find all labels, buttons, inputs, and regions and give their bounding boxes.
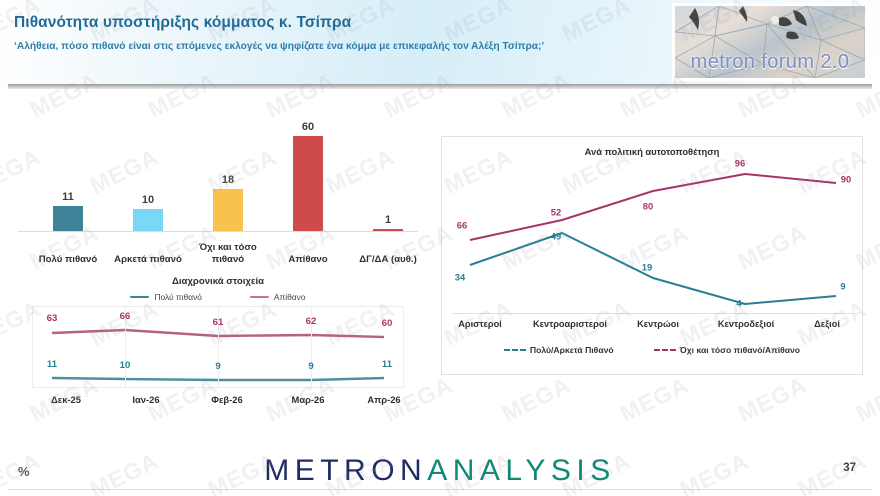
placement-xlabel-3: Κεντροδεξιοί xyxy=(718,319,774,329)
bar-rect-1 xyxy=(133,209,163,231)
page-title: Πιθανότητα υποστήριξης κόμματος κ. Τσίπρ… xyxy=(14,14,351,32)
bar-baseline xyxy=(18,231,418,232)
bar-value-1: 10 xyxy=(112,194,184,206)
chart-timeseries: Διαχρονικά στοιχεία Πολύ πιθανό Απίθανο xyxy=(18,276,418,428)
placement-xlabel-1: Κεντροαριστεροί xyxy=(533,319,607,329)
timeseries-value-poly-2: 9 xyxy=(215,361,220,372)
bar-rect-3 xyxy=(293,136,323,231)
placement-value-positive-1: 49 xyxy=(551,231,561,242)
placement-legend-item-positive: Πολύ/Αρκετά Πιθανό xyxy=(504,345,614,355)
placement-lines xyxy=(452,163,854,313)
header-divider xyxy=(8,84,872,89)
bar-group-0: 11 xyxy=(32,191,104,231)
logo-text: metron forum 2.0 xyxy=(675,51,865,74)
metron-analysis-brand: METRONANALYSIS xyxy=(0,454,880,488)
placement-value-negative-4: 90 xyxy=(841,174,851,185)
legend-dash-icon xyxy=(654,349,676,351)
timeseries-value-apithano-2: 61 xyxy=(213,317,224,328)
timeseries-value-poly-3: 9 xyxy=(308,361,313,372)
bar-group-3: 60 xyxy=(272,121,344,231)
legend-item-poly-pithano: Πολύ πιθανό xyxy=(130,292,201,302)
placement-value-negative-2: 80 xyxy=(643,201,653,212)
timeseries-value-apithano-4: 60 xyxy=(382,318,393,329)
bar-value-4: 1 xyxy=(352,214,424,226)
timeseries-xlabel-2: Φεβ-26 xyxy=(211,394,242,405)
slide-body: 11 10 18 60 1 Πολύ πιθανό Αρκετά πιθανό … xyxy=(0,90,880,440)
bar-group-2: 18 xyxy=(192,174,264,231)
bar-group-1: 10 xyxy=(112,194,184,231)
bar-rect-4 xyxy=(373,229,403,231)
page-subtitle: ‘Αλήθεια, πόσο πιθανό είναι στις επόμενε… xyxy=(14,40,634,55)
footer-divider xyxy=(8,489,872,490)
bar-label-1: Αρκετά πιθανό xyxy=(105,254,191,266)
timeseries-value-poly-0: 11 xyxy=(47,359,57,370)
bar-rect-0 xyxy=(53,206,83,231)
placement-legend-label-0: Πολύ/Αρκετά Πιθανό xyxy=(530,345,614,355)
chart-distribution-bar: 11 10 18 60 1 Πολύ πιθανό Αρκετά πιθανό … xyxy=(18,112,418,267)
chart-placement-plot: 66 52 80 96 90 34 49 19 4 9 xyxy=(452,163,854,313)
chart-placement-title: Ανά πολιτική αυτοτοποθέτηση xyxy=(442,146,862,157)
bar-label-3: Απίθανο xyxy=(265,254,351,266)
timeseries-xlabel-0: Δεκ-25 xyxy=(51,394,81,405)
bar-value-3: 60 xyxy=(272,121,344,133)
chart-timeseries-plot: 63 66 61 62 60 11 10 9 9 11 xyxy=(32,306,404,388)
brand-analysis: ANALYSIS xyxy=(427,454,616,487)
bar-group-4: 1 xyxy=(352,214,424,231)
placement-value-positive-3: 4 xyxy=(736,298,741,309)
placement-value-negative-3: 96 xyxy=(735,158,745,169)
brand-metron: METRON xyxy=(264,454,427,487)
placement-value-negative-0: 66 xyxy=(457,220,467,231)
chart-by-political-placement: Ανά πολιτική αυτοτοποθέτηση 66 52 80 96 … xyxy=(441,136,863,375)
chart-timeseries-title: Διαχρονικά στοιχεία xyxy=(18,276,418,287)
legend-label-1: Απίθανο xyxy=(274,292,306,302)
timeseries-xlabel-1: Ιαν-26 xyxy=(132,394,159,405)
placement-legend-item-negative: Όχι και τόσο πιθανό/Απίθανο xyxy=(654,345,800,355)
legend-dash-icon xyxy=(504,349,526,351)
placement-value-positive-2: 19 xyxy=(642,262,652,273)
legend-swatch-icon xyxy=(250,296,269,299)
legend-label-0: Πολύ πιθανό xyxy=(154,292,201,302)
logo-image: metron forum 2.0 xyxy=(675,6,865,78)
bar-value-0: 11 xyxy=(32,191,104,203)
placement-xlabel-4: Δεξιοί xyxy=(814,319,840,329)
placement-baseline xyxy=(452,313,854,314)
timeseries-value-apithano-1: 66 xyxy=(120,311,131,322)
timeseries-value-poly-1: 10 xyxy=(120,360,131,371)
gridline-v-0 xyxy=(32,306,33,388)
legend-item-apithano: Απίθανο xyxy=(250,292,306,302)
placement-value-positive-4: 9 xyxy=(840,281,845,292)
timeseries-value-apithano-3: 62 xyxy=(306,316,317,327)
placement-xlabel-2: Κεντρώοι xyxy=(637,319,679,329)
bar-value-2: 18 xyxy=(192,174,264,186)
metron-forum-logo: metron forum 2.0 xyxy=(672,3,868,81)
timeseries-value-apithano-0: 63 xyxy=(47,313,58,324)
placement-legend-label-1: Όχι και τόσο πιθανό/Απίθανο xyxy=(680,345,800,355)
bar-rect-2 xyxy=(213,189,243,231)
placement-xlabel-0: Αριστεροί xyxy=(458,319,501,329)
gridline-v-4 xyxy=(403,306,404,388)
chart-timeseries-legend: Πολύ πιθανό Απίθανο xyxy=(18,292,418,302)
placement-value-positive-0: 34 xyxy=(455,272,465,283)
bar-label-4: ΔΓ/ΔΑ (αυθ.) xyxy=(345,254,431,266)
timeseries-xlabel-3: Μαρ-26 xyxy=(292,394,325,405)
bar-label-2: Όχι και τόσο πιθανό xyxy=(185,242,271,265)
timeseries-value-poly-4: 11 xyxy=(382,359,392,370)
slide-footer: % METRONANALYSIS 37 xyxy=(0,440,880,496)
placement-value-negative-1: 52 xyxy=(551,207,561,218)
page-number: 37 xyxy=(843,462,856,474)
timeseries-xlabel-4: Απρ-26 xyxy=(367,394,400,405)
bar-label-0: Πολύ πιθανό xyxy=(25,254,111,266)
chart-placement-title-text: Ανά πολιτική αυτοτοποθέτηση xyxy=(585,146,720,157)
legend-swatch-icon xyxy=(130,296,149,299)
slide: Πιθανότητα υποστήριξης κόμματος κ. Τσίπρ… xyxy=(0,0,880,496)
chart-placement-legend: Πολύ/Αρκετά Πιθανό Όχι και τόσο πιθανό/Α… xyxy=(442,345,862,355)
